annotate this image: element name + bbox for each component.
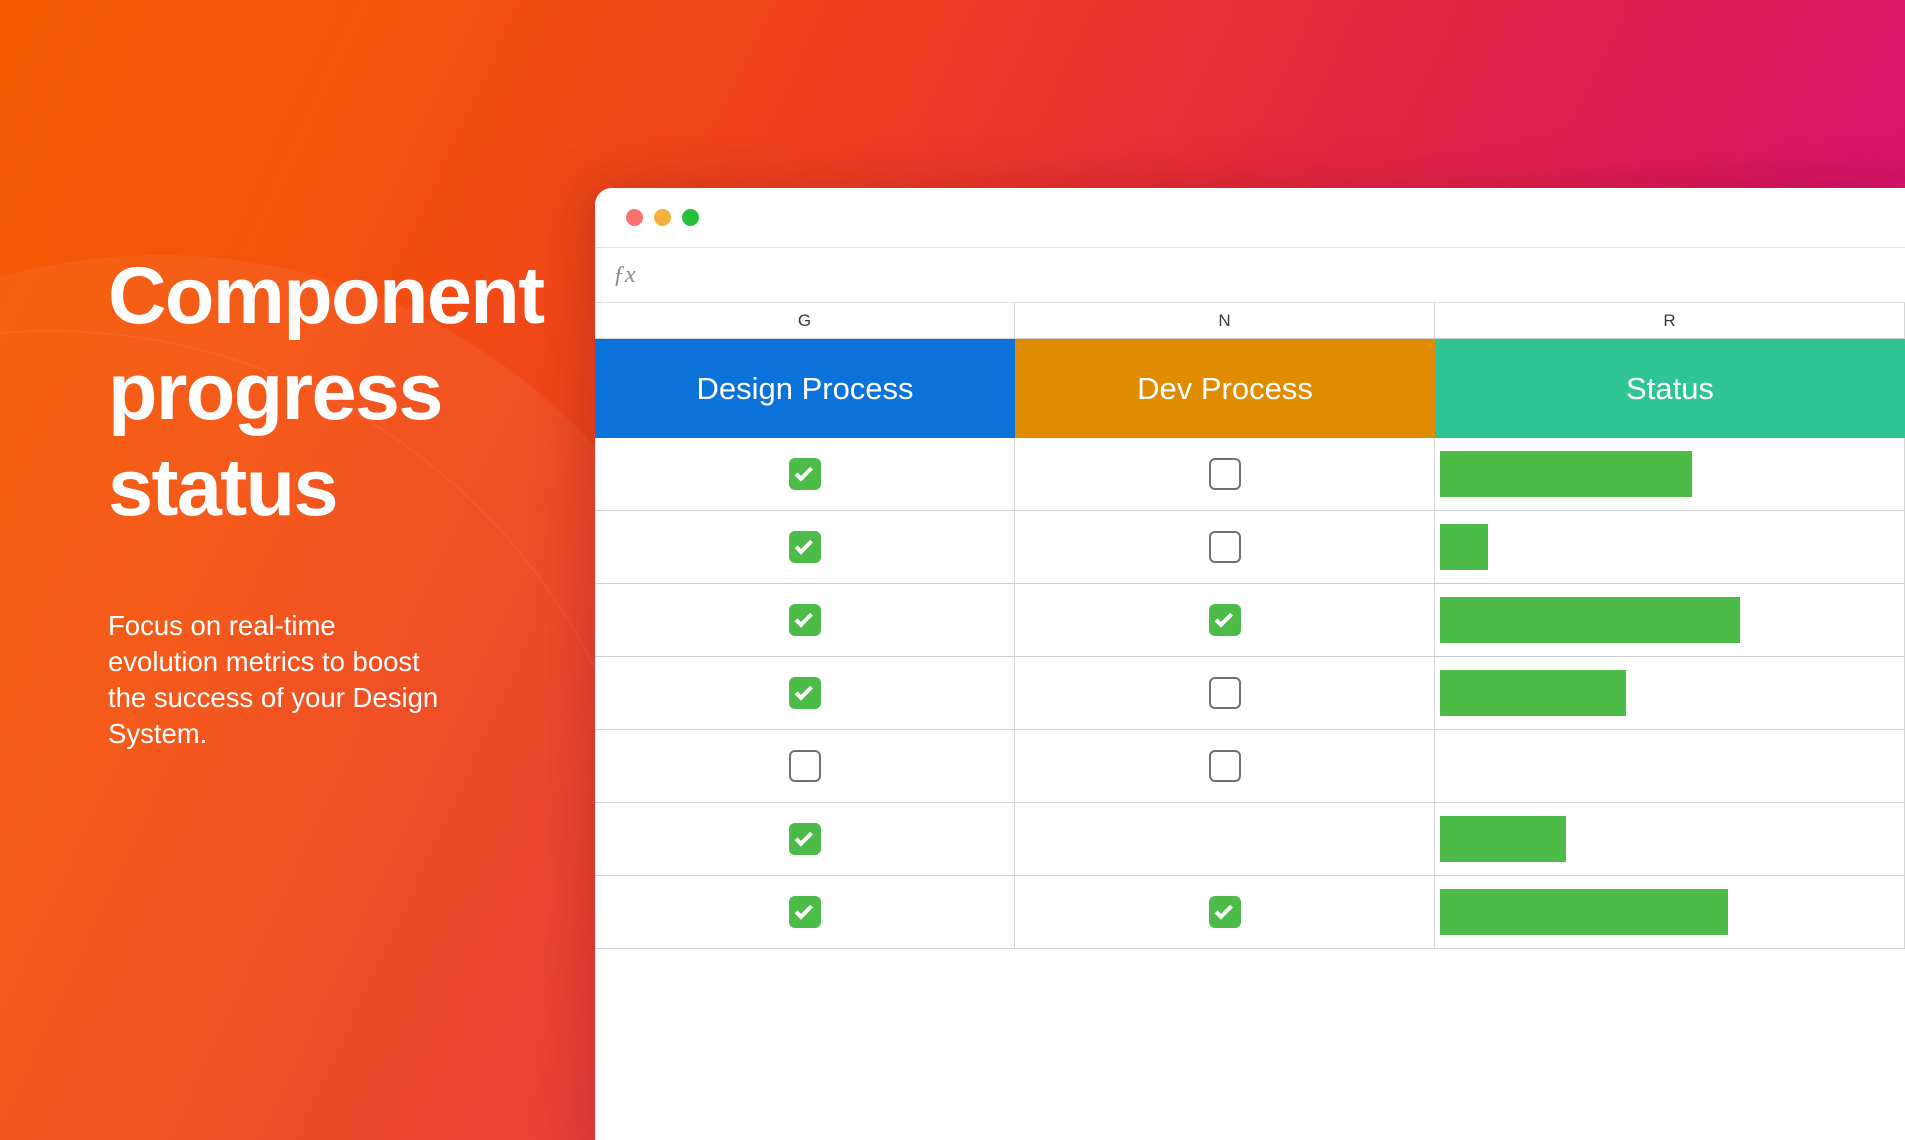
page-subtitle: Focus on real-time evolution metrics to …: [108, 608, 453, 752]
column-letter-r[interactable]: R: [1435, 303, 1905, 339]
header-design-process[interactable]: Design Process: [595, 339, 1015, 438]
spreadsheet-window: ƒx G N R Design Process Dev Process Stat…: [595, 188, 1905, 1140]
checkbox-checked-icon[interactable]: [789, 677, 821, 709]
checkmark-icon: [795, 609, 813, 627]
checkbox-unchecked-icon[interactable]: [1209, 750, 1241, 782]
checkbox-checked-icon[interactable]: [789, 896, 821, 928]
cell-status[interactable]: [1435, 657, 1905, 730]
cell-dev-process[interactable]: [1015, 876, 1435, 949]
checkbox-unchecked-icon[interactable]: [1209, 531, 1241, 563]
status-progress-bar: [1440, 889, 1728, 935]
checkmark-icon: [1215, 609, 1233, 627]
checkmark-icon: [795, 536, 813, 554]
checkbox-checked-icon[interactable]: [789, 531, 821, 563]
table-row: [595, 511, 1905, 584]
cell-design-process[interactable]: [595, 730, 1015, 803]
checkmark-icon: [795, 682, 813, 700]
checkbox-unchecked-icon[interactable]: [1209, 458, 1241, 490]
cell-design-process[interactable]: [595, 438, 1015, 511]
cell-status[interactable]: [1435, 511, 1905, 584]
cell-status[interactable]: [1435, 584, 1905, 657]
checkbox-checked-icon[interactable]: [1209, 604, 1241, 636]
cell-status[interactable]: [1435, 803, 1905, 876]
fx-icon: ƒx: [613, 263, 636, 287]
cell-dev-process[interactable]: [1015, 657, 1435, 730]
formula-bar[interactable]: ƒx: [595, 248, 1905, 303]
checkbox-unchecked-icon[interactable]: [789, 750, 821, 782]
window-titlebar: [595, 188, 1905, 248]
table-header-row: Design Process Dev Process Status: [595, 339, 1905, 438]
spreadsheet-grid: G N R Design Process Dev Process Status: [595, 303, 1905, 949]
cell-dev-process[interactable]: [1015, 803, 1435, 876]
hero-copy: Component progress status Focus on real-…: [108, 248, 578, 752]
cell-design-process[interactable]: [595, 511, 1015, 584]
cell-design-process[interactable]: [595, 584, 1015, 657]
cell-dev-process[interactable]: [1015, 438, 1435, 511]
table-row: [595, 657, 1905, 730]
table-body: [595, 438, 1905, 949]
cell-design-process[interactable]: [595, 876, 1015, 949]
table-row: [595, 803, 1905, 876]
checkbox-unchecked-icon[interactable]: [1209, 677, 1241, 709]
cell-design-process[interactable]: [595, 657, 1015, 730]
status-progress-bar: [1440, 597, 1740, 643]
checkbox-checked-icon[interactable]: [789, 458, 821, 490]
cell-design-process[interactable]: [595, 803, 1015, 876]
checkmark-icon: [1215, 901, 1233, 919]
table-row: [595, 876, 1905, 949]
cell-dev-process[interactable]: [1015, 584, 1435, 657]
table-row: [595, 438, 1905, 511]
table-row: [595, 584, 1905, 657]
maximize-button[interactable]: [682, 209, 699, 226]
header-status[interactable]: Status: [1435, 339, 1905, 438]
checkbox-checked-icon[interactable]: [789, 604, 821, 636]
checkbox-checked-icon[interactable]: [789, 823, 821, 855]
status-progress-bar: [1440, 670, 1626, 716]
status-progress-bar: [1440, 816, 1566, 862]
column-letter-g[interactable]: G: [595, 303, 1015, 339]
minimize-button[interactable]: [654, 209, 671, 226]
status-progress-bar: [1440, 524, 1488, 570]
cell-status[interactable]: [1435, 438, 1905, 511]
column-letter-n[interactable]: N: [1015, 303, 1435, 339]
cell-dev-process[interactable]: [1015, 730, 1435, 803]
header-dev-process[interactable]: Dev Process: [1015, 339, 1435, 438]
status-progress-bar: [1440, 451, 1692, 497]
column-letter-row: G N R: [595, 303, 1905, 339]
checkmark-icon: [795, 901, 813, 919]
page-title: Component progress status: [108, 248, 548, 536]
close-button[interactable]: [626, 209, 643, 226]
table-row: [595, 730, 1905, 803]
checkmark-icon: [795, 828, 813, 846]
checkmark-icon: [795, 463, 813, 481]
cell-status[interactable]: [1435, 876, 1905, 949]
checkbox-checked-icon[interactable]: [1209, 896, 1241, 928]
cell-dev-process[interactable]: [1015, 511, 1435, 584]
cell-status[interactable]: [1435, 730, 1905, 803]
